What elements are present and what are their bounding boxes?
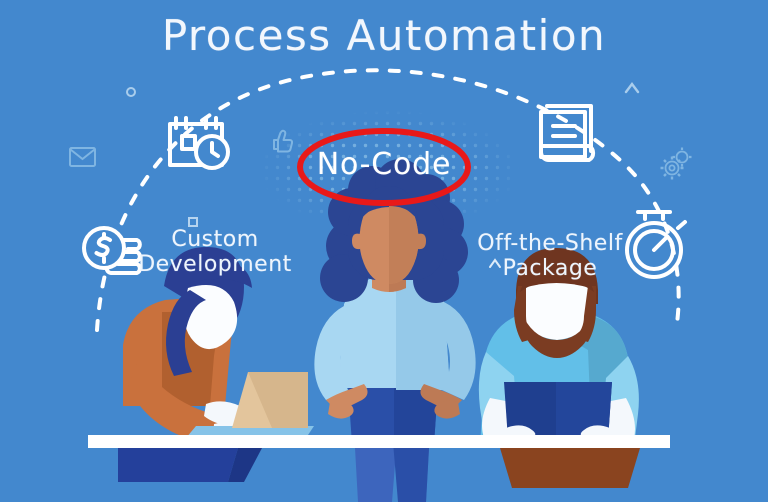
off-the-shelf-label: Off-the-Shelf Package xyxy=(450,232,650,281)
custom-development-label: Custom Development xyxy=(120,228,310,277)
nocode-label: No-Code xyxy=(284,148,484,182)
page-title: Process Automation xyxy=(0,12,768,59)
illustration-canvas: Process Automation No-Code Custom Develo… xyxy=(0,0,768,502)
highlight-layer xyxy=(0,0,768,502)
